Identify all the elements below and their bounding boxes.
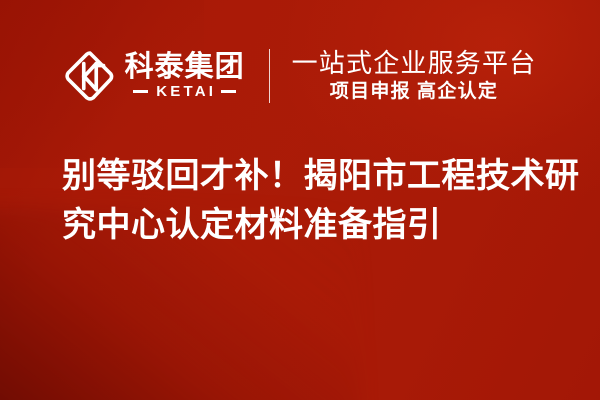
tagline-primary: 一站式企业服务平台 bbox=[292, 50, 537, 77]
promo-banner: 科泰集团 KETAI 一站式企业服务平台 项目申报 高企认定 别等驳回才补！揭阳… bbox=[0, 0, 600, 400]
banner-header: 科泰集团 KETAI 一站式企业服务平台 项目申报 高企认定 bbox=[0, 38, 600, 114]
header-divider bbox=[269, 49, 270, 103]
headline-line-1: 别等驳回才补！揭阳市工程技术研 bbox=[62, 152, 562, 201]
tagline-block: 一站式企业服务平台 项目申报 高企认定 bbox=[292, 50, 537, 101]
wordmark-dash-right-icon bbox=[221, 90, 236, 93]
brand-name-cn: 科泰集团 bbox=[125, 53, 245, 82]
ketai-logo-icon bbox=[64, 50, 116, 102]
wordmark-dash-left-icon bbox=[133, 90, 148, 93]
brand-wordmark: 科泰集团 KETAI bbox=[125, 53, 245, 99]
headline-line-2: 究中心认定材料准备指引 bbox=[62, 201, 562, 250]
brand-name-en-row: KETAI bbox=[125, 84, 245, 99]
headline-block: 别等驳回才补！揭阳市工程技术研 究中心认定材料准备指引 bbox=[62, 152, 562, 250]
brand-lockup[interactable]: 科泰集团 KETAI bbox=[64, 50, 245, 102]
brand-name-en: KETAI bbox=[153, 84, 216, 99]
tagline-secondary: 项目申报 高企认定 bbox=[292, 82, 537, 102]
